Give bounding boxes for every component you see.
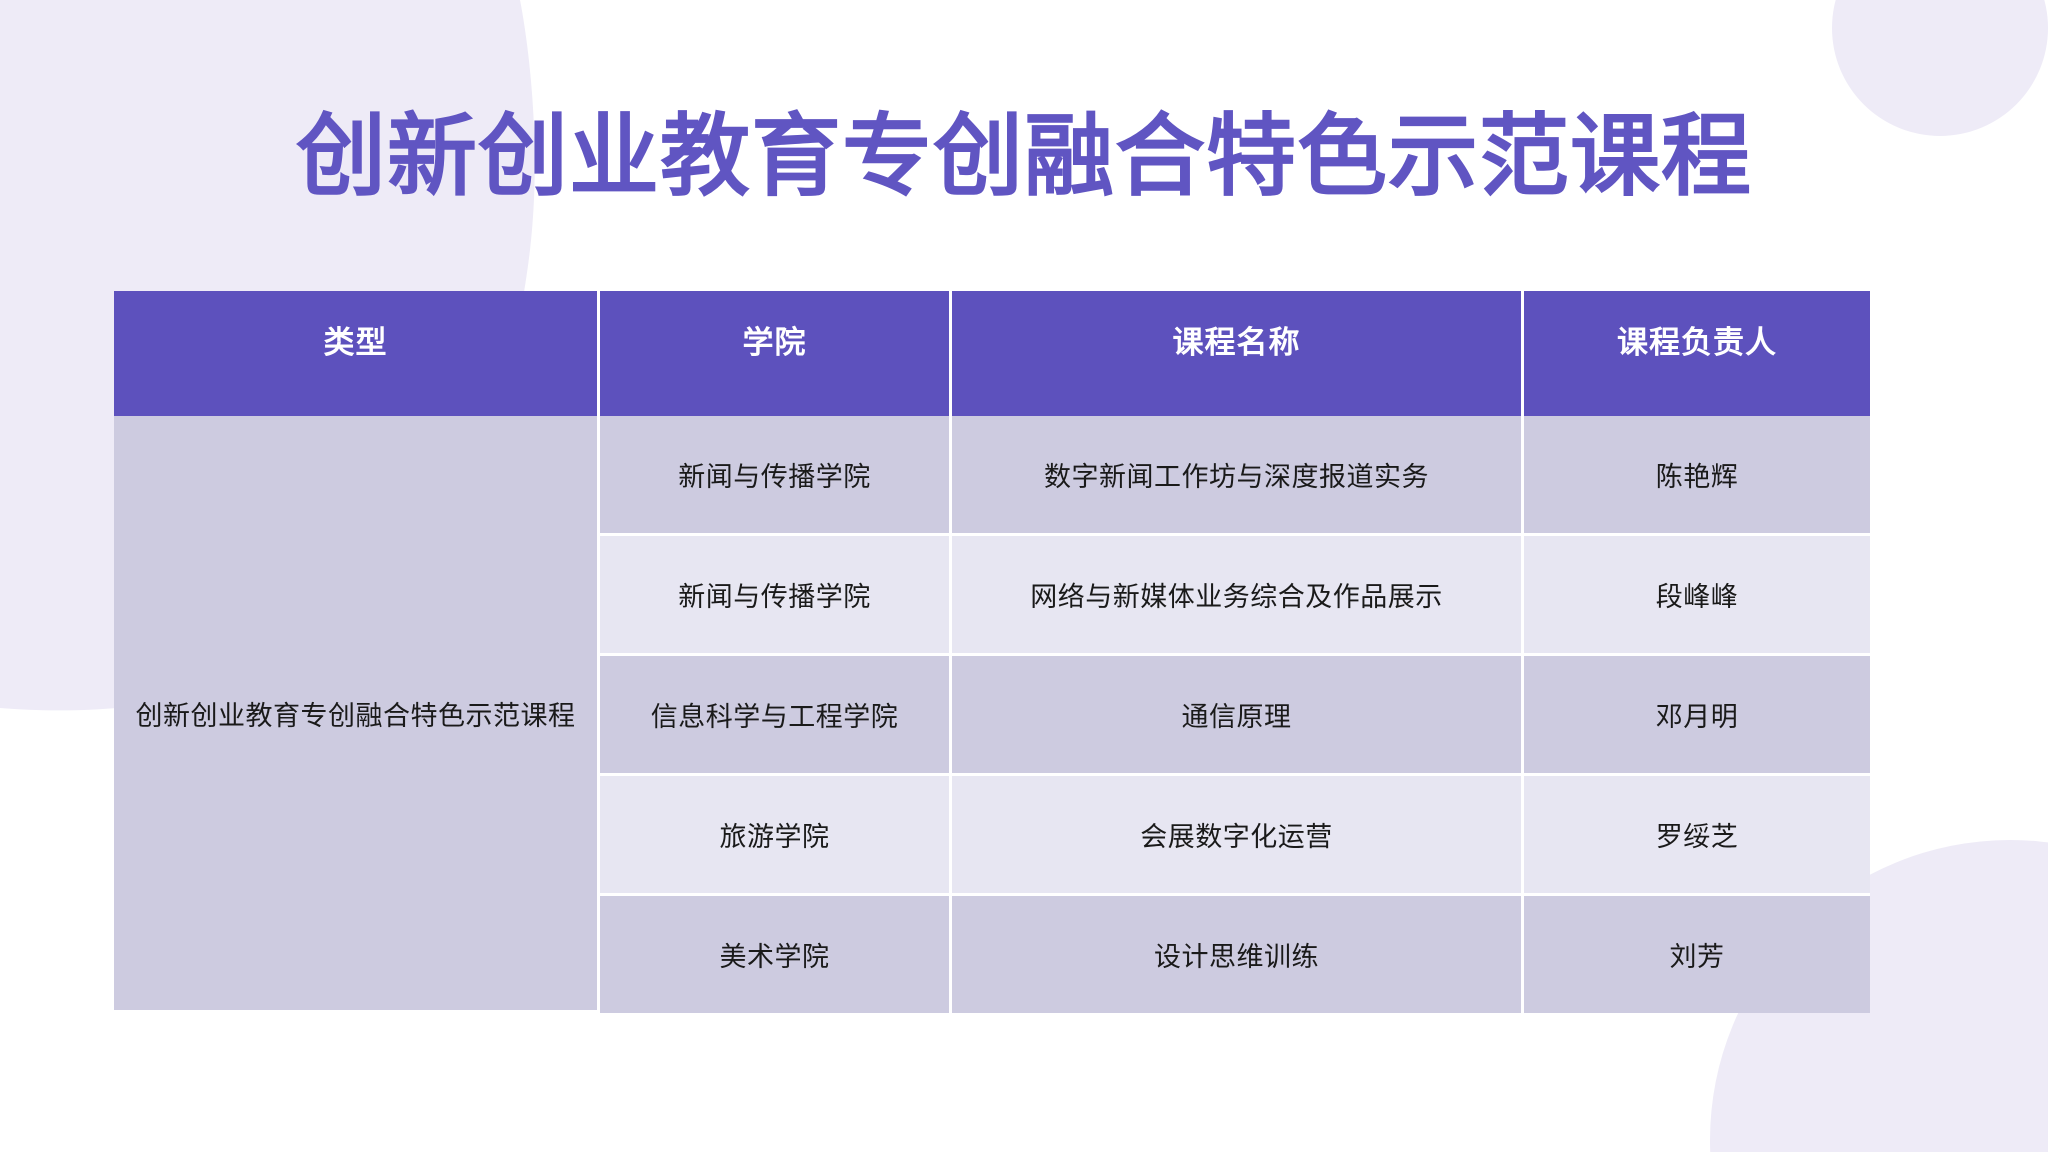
cell-course: 设计思维训练 <box>952 896 1524 1013</box>
table-row: 创新创业教育专创融合特色示范课程 新闻与传播学院 数字新闻工作坊与深度报道实务 … <box>114 416 1870 536</box>
table-header-row: 类型 学院 课程名称 课程负责人 <box>114 291 1870 416</box>
cell-course: 通信原理 <box>952 656 1524 776</box>
slide-canvas: 创新创业教育专创融合特色示范课程 类型 学院 课程名称 课程负责人 <box>0 0 2048 1152</box>
merged-type-cell-label: 创新创业教育专创融合特色示范课程 <box>136 694 576 733</box>
cell-course: 网络与新媒体业务综合及作品展示 <box>952 536 1524 656</box>
cell-college: 美术学院 <box>600 896 952 1013</box>
cell-college: 信息科学与工程学院 <box>600 656 952 776</box>
cell-owner: 刘芳 <box>1524 896 1870 1013</box>
page-title: 创新创业教育专创融合特色示范课程 <box>0 112 2048 202</box>
cell-college: 新闻与传播学院 <box>600 536 952 656</box>
merged-type-cell: 创新创业教育专创融合特色示范课程 <box>114 416 600 1013</box>
column-header-college: 学院 <box>600 291 952 416</box>
column-header-course: 课程名称 <box>952 291 1524 416</box>
column-header-owner-label: 课程负责人 <box>1530 317 1864 362</box>
column-header-course-label: 课程名称 <box>958 317 1515 362</box>
cell-owner: 陈艳辉 <box>1524 416 1870 536</box>
course-table: 类型 学院 课程名称 课程负责人 创新创业教育专创融合特色示范课程 新闻与传播学… <box>114 291 1870 1013</box>
cell-owner: 邓月明 <box>1524 656 1870 776</box>
cell-college: 新闻与传播学院 <box>600 416 952 536</box>
cell-course: 会展数字化运营 <box>952 776 1524 896</box>
column-header-college-label: 学院 <box>606 317 943 362</box>
cell-college: 旅游学院 <box>600 776 952 896</box>
column-header-type: 类型 <box>114 291 600 416</box>
cell-owner: 罗绥芝 <box>1524 776 1870 896</box>
column-header-type-label: 类型 <box>120 317 591 362</box>
cell-owner: 段峰峰 <box>1524 536 1870 656</box>
cell-course: 数字新闻工作坊与深度报道实务 <box>952 416 1524 536</box>
column-header-owner: 课程负责人 <box>1524 291 1870 416</box>
